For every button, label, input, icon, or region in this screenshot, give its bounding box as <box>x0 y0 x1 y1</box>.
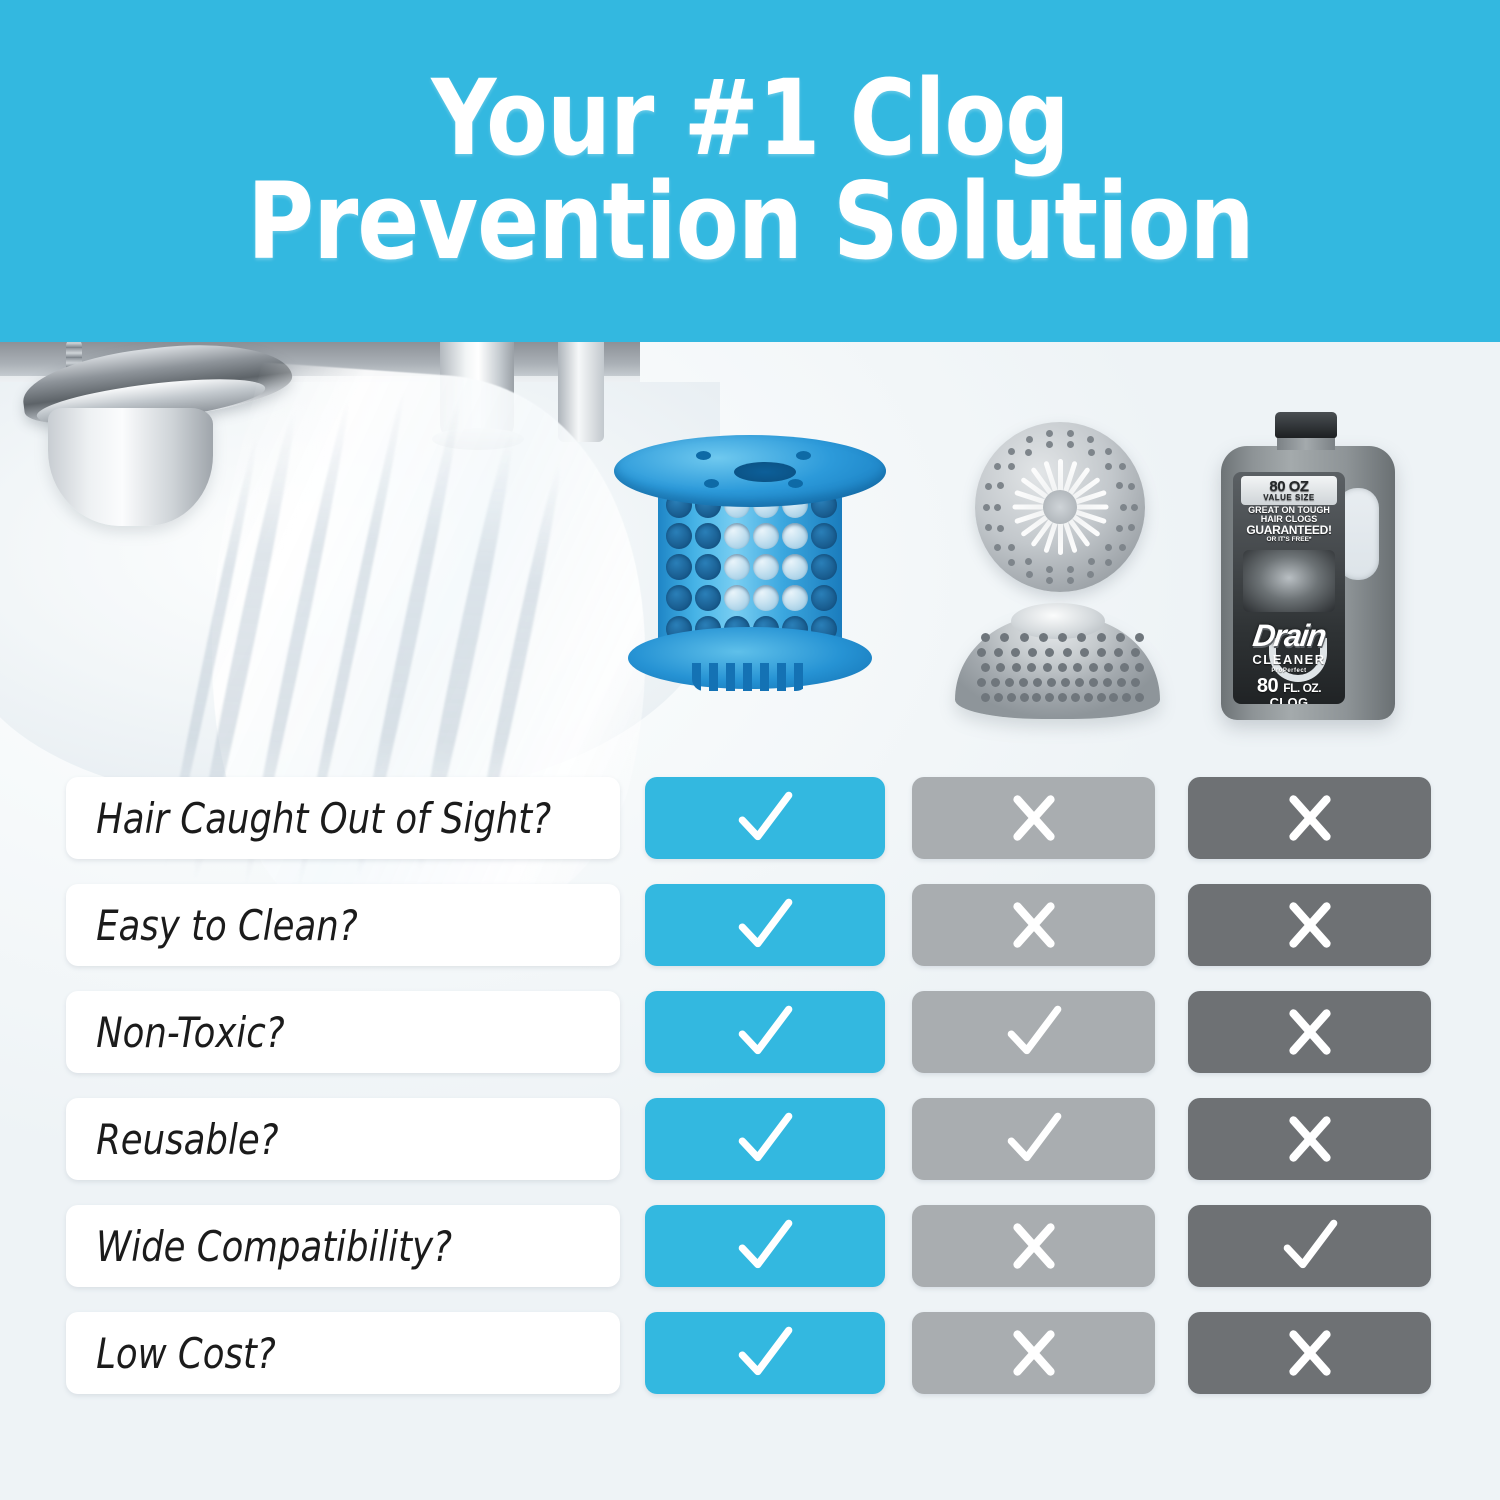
row-label-text: Easy to Clean? <box>66 901 358 950</box>
dome-hole <box>1012 663 1021 672</box>
row-label-text: Reusable? <box>66 1115 279 1164</box>
strainer-dot <box>1131 504 1138 511</box>
dome-hole <box>1047 678 1056 687</box>
strainer-dot <box>1025 558 1032 565</box>
cross-icon <box>1277 1106 1343 1172</box>
row-label-pill: Reusable? <box>66 1098 620 1180</box>
blue-drain-protector-product <box>600 427 900 727</box>
dome-hole <box>1039 633 1048 642</box>
drain-hole <box>666 554 692 580</box>
cross-icon <box>1001 1213 1067 1279</box>
strainer-dot <box>1088 449 1095 456</box>
bottle-claim: GREAT ON TOUGH HAIR CLOGS GUARANTEED! OR… <box>1237 506 1341 543</box>
check-icon <box>732 1320 798 1386</box>
dome-hole <box>991 678 1000 687</box>
comparison-cell-col-2 <box>1188 1312 1431 1394</box>
product-image-row: 80 OZ VALUE SIZE GREAT ON TOUGH HAIR CLO… <box>0 342 1500 762</box>
dome-hole <box>981 693 990 702</box>
dome-hole <box>1131 648 1140 657</box>
headline-line-1: Your #1 Clog <box>431 68 1068 170</box>
header-banner: Your #1 Clog Prevention Solution <box>0 0 1500 342</box>
row-label-pill: Easy to Clean? <box>66 884 620 966</box>
strainer-dot <box>1105 544 1112 551</box>
comparison-cell-col-0 <box>645 1098 885 1180</box>
row-label-pill: Low Cost? <box>66 1312 620 1394</box>
bottle-brand-sub: CLEANER <box>1237 653 1341 666</box>
drain-hole <box>753 523 779 549</box>
drain-hole <box>666 585 692 611</box>
drain-hole <box>811 554 837 580</box>
strainer-dot <box>1025 449 1032 456</box>
drain-protector-teeth <box>692 663 808 691</box>
dome-hole <box>1089 678 1098 687</box>
comparison-cell-col-1 <box>912 1312 1155 1394</box>
dome-hole <box>1084 693 1093 702</box>
dome-hole <box>981 663 990 672</box>
row-label-pill: Hair Caught Out of Sight? <box>66 777 620 859</box>
strainer-dot <box>1046 577 1053 584</box>
comparison-cell-col-0 <box>645 991 885 1073</box>
dome-hole <box>1033 678 1042 687</box>
strainer-dot <box>1116 525 1123 532</box>
drain-hole <box>753 585 779 611</box>
strainer-dot <box>1120 504 1127 511</box>
gray-flat-strainer-product <box>975 422 1145 592</box>
bottle-guarantee-sub: OR IT'S FREE* <box>1237 537 1341 544</box>
bottle-brand-name: Drain <box>1233 620 1345 652</box>
row-label-text: Low Cost? <box>66 1329 276 1378</box>
comparison-cell-col-2 <box>1188 884 1431 966</box>
dome-hole <box>1117 678 1126 687</box>
dome-hole <box>1097 633 1106 642</box>
comparison-cell-col-1 <box>912 777 1155 859</box>
dome-hole <box>1019 678 1028 687</box>
drain-hole <box>782 585 808 611</box>
dome-hole <box>1071 693 1080 702</box>
comparison-cell-col-0 <box>645 884 885 966</box>
drain-hole <box>782 554 808 580</box>
comparison-cell-col-0 <box>645 1312 885 1394</box>
comparison-cell-col-1 <box>912 1098 1155 1180</box>
table-row: Wide Compatibility? <box>0 1205 1500 1287</box>
dome-hole <box>1135 633 1144 642</box>
dome-hole <box>1020 633 1029 642</box>
top-disc-hole <box>788 479 803 488</box>
dome-hole <box>1058 693 1067 702</box>
dome-hole <box>1089 663 1098 672</box>
check-icon <box>732 785 798 851</box>
strainer-dot <box>994 544 1001 551</box>
dome-hole <box>1007 693 1016 702</box>
drain-hole <box>811 585 837 611</box>
top-disc-hole <box>704 479 719 488</box>
check-icon <box>732 1213 798 1279</box>
drain-hole <box>782 523 808 549</box>
check-icon <box>732 1106 798 1172</box>
drain-hole <box>811 523 837 549</box>
table-row: Non-Toxic? <box>0 991 1500 1073</box>
strainer-dot <box>1087 571 1094 578</box>
cross-icon <box>1001 1320 1067 1386</box>
dome-hole <box>1131 678 1140 687</box>
dome-hole <box>981 633 990 642</box>
drain-protector-top-disc <box>614 435 886 507</box>
strainer-dot <box>983 504 990 511</box>
bottle-product-type: CLOG REMOVER <box>1235 696 1343 704</box>
bottle-oz-text: 80 OZ <box>1241 479 1337 494</box>
strainer-dot <box>1105 448 1112 455</box>
bottle-size-number: 80 <box>1257 675 1278 697</box>
table-row: Reusable? <box>0 1098 1500 1180</box>
dome-hole <box>994 693 1003 702</box>
bottle-cap <box>1275 412 1337 438</box>
row-label-text: Non-Toxic? <box>66 1008 285 1057</box>
bottle-label: 80 OZ VALUE SIZE GREAT ON TOUGH HAIR CLO… <box>1233 472 1345 704</box>
gray-dome-strainer-product <box>955 597 1160 722</box>
dome-hole <box>1097 648 1106 657</box>
strainer-dot <box>1067 566 1074 573</box>
dome-hole <box>1135 693 1144 702</box>
check-icon <box>732 892 798 958</box>
top-disc-hole <box>696 451 711 460</box>
dome-hole <box>977 678 986 687</box>
strainer-dot <box>1119 544 1126 551</box>
flat-strainer-center <box>1043 490 1077 524</box>
dome-hole <box>1097 693 1106 702</box>
dome-hole <box>1135 663 1144 672</box>
dome-hole <box>1120 663 1129 672</box>
comparison-cell-col-2 <box>1188 777 1431 859</box>
strainer-dot <box>1008 448 1015 455</box>
table-row: Hair Caught Out of Sight? <box>0 777 1500 859</box>
bottle-size: 80 FL. OZ. <box>1235 676 1343 696</box>
strainer-dot <box>1116 482 1123 489</box>
cross-icon <box>1277 892 1343 958</box>
table-row: Easy to Clean? <box>0 884 1500 966</box>
comparison-cell-col-0 <box>645 777 885 859</box>
bottle-value-size-badge: 80 OZ VALUE SIZE <box>1241 476 1337 505</box>
dome-hole <box>977 648 986 657</box>
headline-line-2: Prevention Solution <box>247 170 1254 274</box>
strainer-dot <box>1105 463 1112 470</box>
dome-hole <box>1020 693 1029 702</box>
comparison-cell-col-2 <box>1188 991 1431 1073</box>
comparison-table: Hair Caught Out of Sight?Easy to Clean?N… <box>0 777 1500 1417</box>
drain-hole <box>695 585 721 611</box>
comparison-cell-col-1 <box>912 991 1155 1073</box>
comparison-cell-col-2 <box>1188 1205 1431 1287</box>
cross-icon <box>1277 785 1343 851</box>
bottle-size-unit: FL. OZ. <box>1283 681 1321 695</box>
drain-hole <box>724 585 750 611</box>
bottle-pro-line: ProPerfect <box>1237 668 1341 674</box>
cross-icon <box>1277 999 1343 1065</box>
top-disc-hole <box>796 451 811 460</box>
drain-hole <box>753 554 779 580</box>
dome-hole <box>1063 648 1072 657</box>
strainer-dot <box>1026 436 1033 443</box>
cross-icon <box>1001 892 1067 958</box>
drain-hole <box>724 554 750 580</box>
drain-hole <box>666 523 692 549</box>
strainer-dot <box>1128 483 1135 490</box>
dome-hole <box>1075 678 1084 687</box>
dome-hole <box>1061 678 1070 687</box>
comparison-cell-col-0 <box>645 1205 885 1287</box>
strainer-dot <box>1128 524 1135 531</box>
row-label-pill: Non-Toxic? <box>66 991 620 1073</box>
cross-icon <box>1277 1320 1343 1386</box>
check-icon <box>1001 1106 1067 1172</box>
bottle-value-size-text: VALUE SIZE <box>1241 494 1337 502</box>
table-row: Low Cost? <box>0 1312 1500 1394</box>
check-icon <box>1277 1213 1343 1279</box>
row-label-text: Wide Compatibility? <box>66 1222 452 1271</box>
drain-hole <box>695 523 721 549</box>
row-label-text: Hair Caught Out of Sight? <box>66 794 551 843</box>
bottle-pipe-graphic <box>1243 550 1335 612</box>
comparison-cell-col-1 <box>912 884 1155 966</box>
comparison-cell-col-2 <box>1188 1098 1431 1180</box>
comparison-cell-col-1 <box>912 1205 1155 1287</box>
drain-hole <box>724 523 750 549</box>
check-icon <box>1001 999 1067 1065</box>
row-label-pill: Wide Compatibility? <box>66 1205 620 1287</box>
dome-hole <box>1116 633 1125 642</box>
strainer-dot <box>1026 571 1033 578</box>
dome-hole <box>1080 648 1089 657</box>
strainer-dot <box>1088 558 1095 565</box>
dome-hole <box>1114 648 1123 657</box>
strainer-dot <box>1046 566 1053 573</box>
strainer-dot <box>994 504 1001 511</box>
dome-hole <box>1005 678 1014 687</box>
dome-hole <box>1103 678 1112 687</box>
strainer-dot <box>1067 577 1074 584</box>
dome-hole <box>1058 633 1067 642</box>
cross-icon <box>1001 785 1067 851</box>
bottle-guarantee: GUARANTEED! <box>1237 524 1341 536</box>
drain-protector-center-hole <box>734 462 796 482</box>
dome-hole <box>1058 663 1067 672</box>
drain-cleaner-bottle-product: 80 OZ VALUE SIZE GREAT ON TOUGH HAIR CLO… <box>1215 412 1400 722</box>
check-icon <box>732 999 798 1065</box>
infographic-page: Your #1 Clog Prevention Solution <box>0 0 1500 1500</box>
drain-hole <box>695 554 721 580</box>
dome-hole <box>1043 663 1052 672</box>
